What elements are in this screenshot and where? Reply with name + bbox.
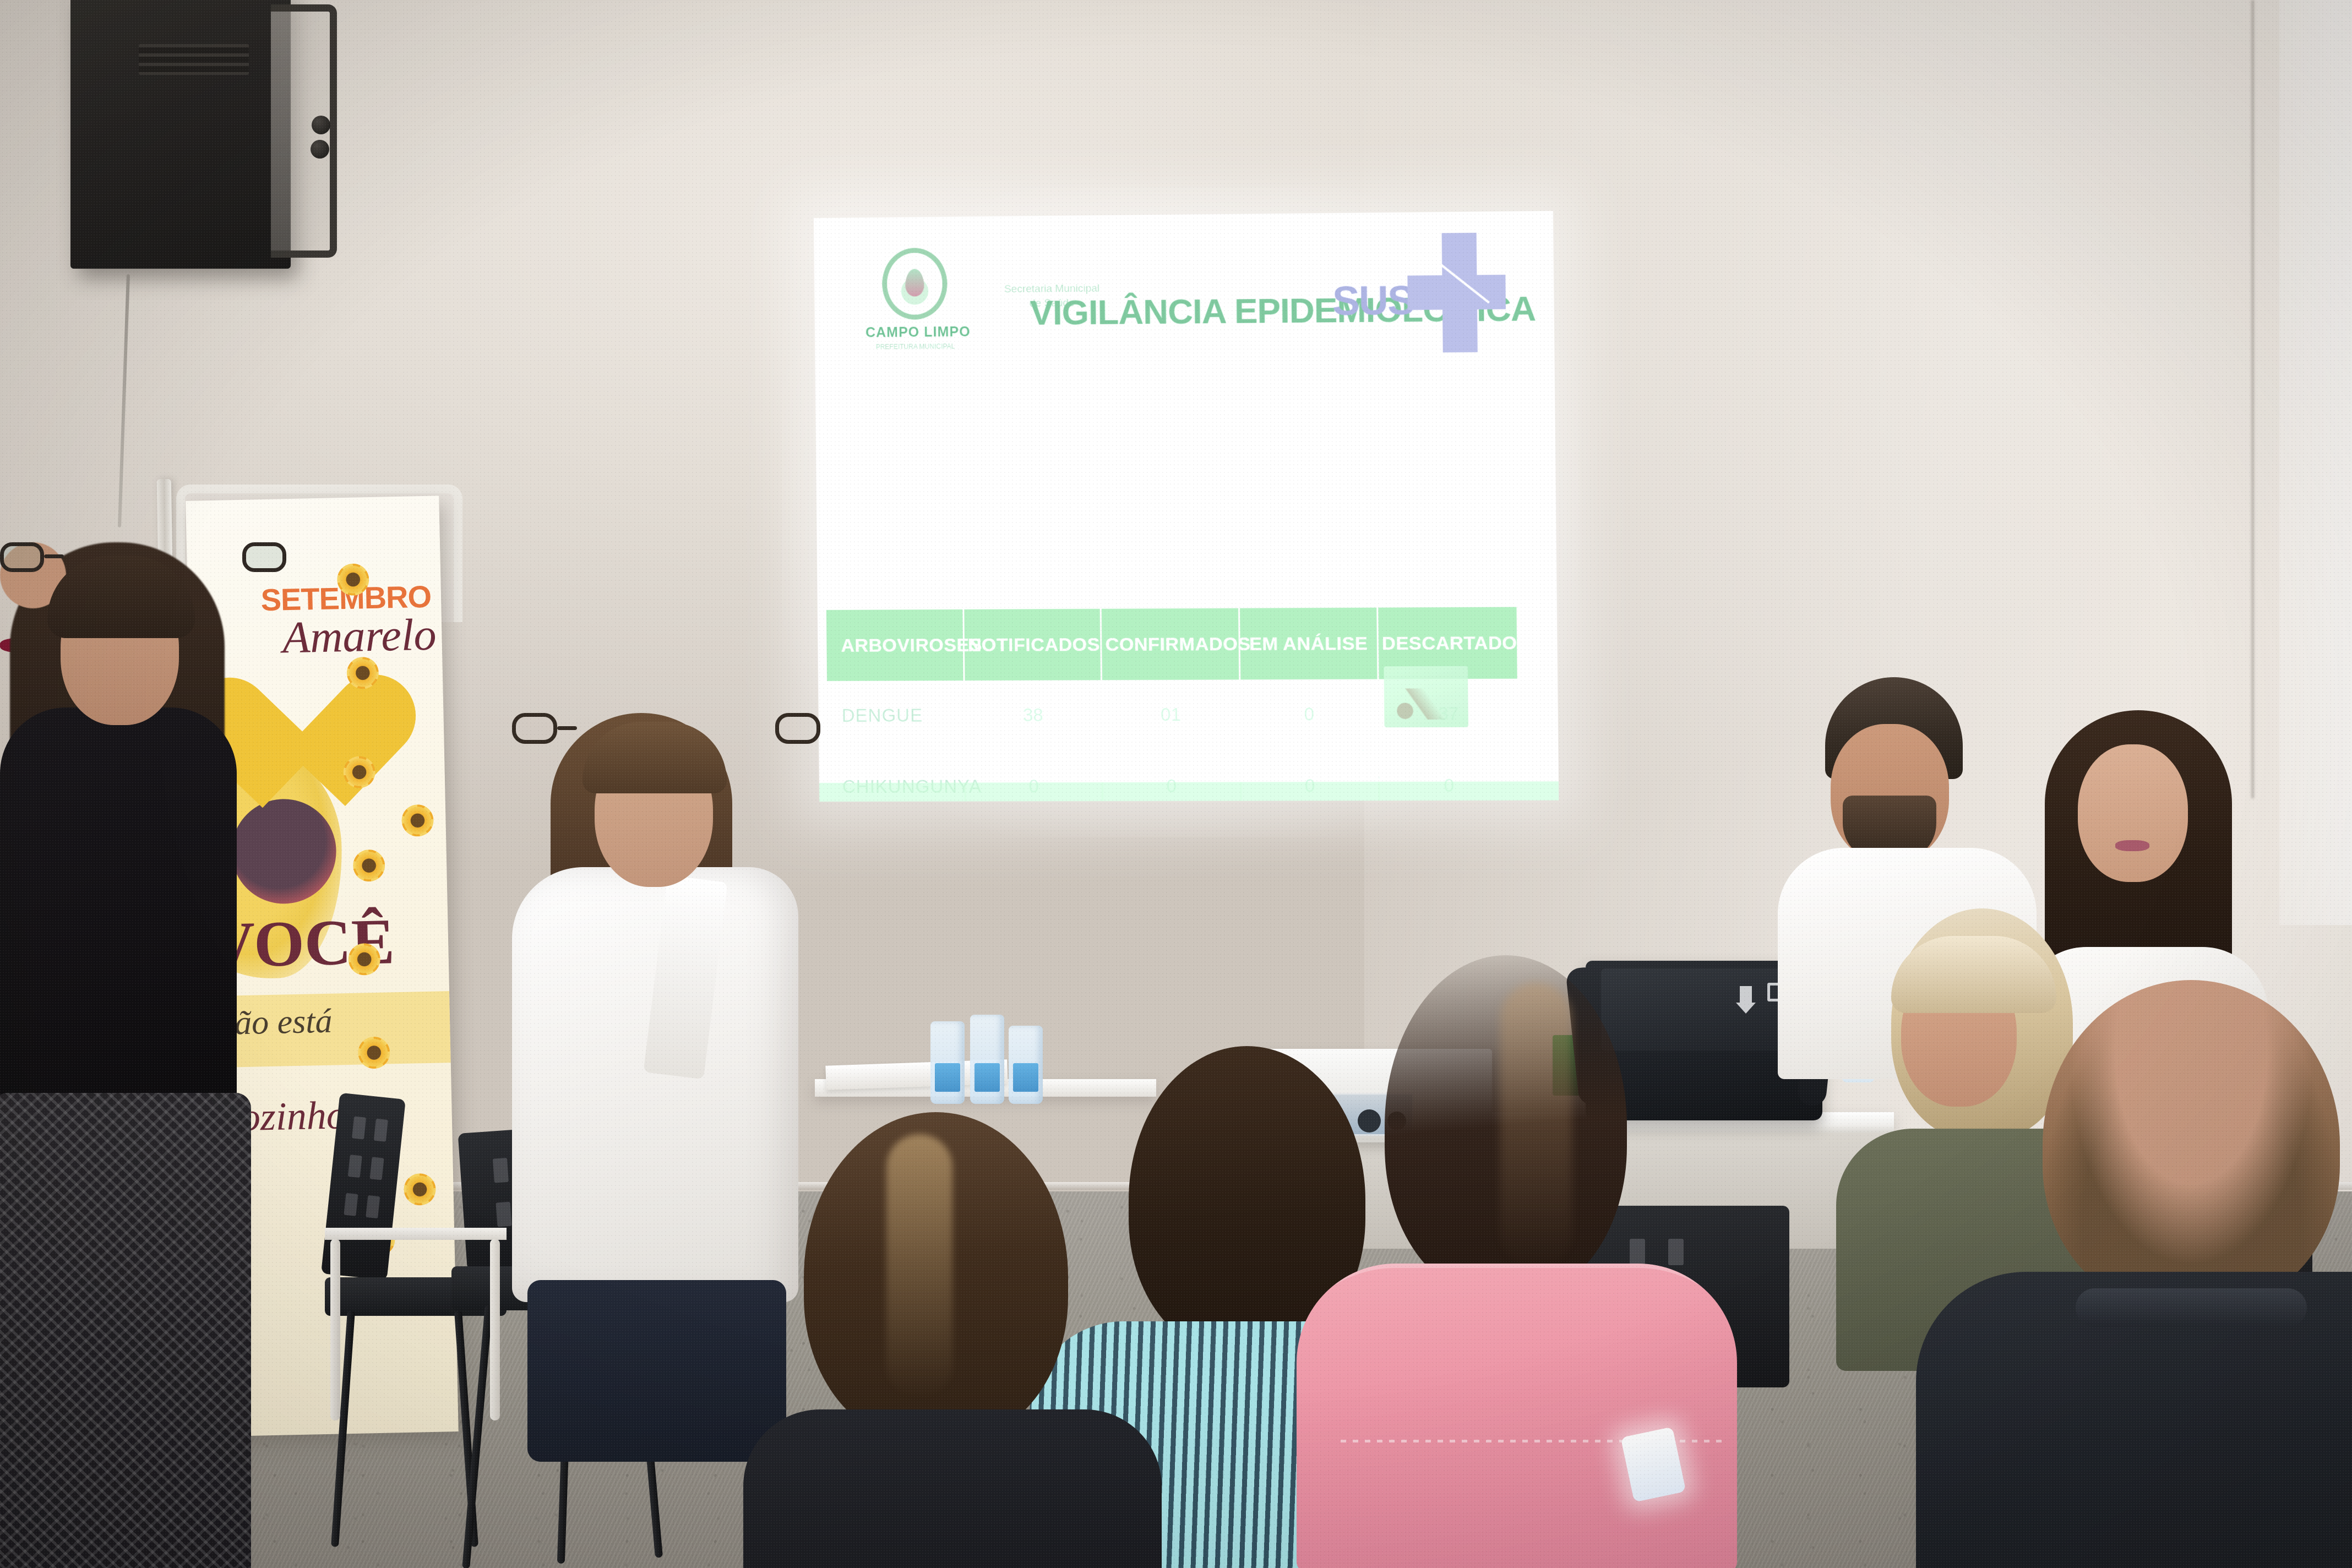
water-bottle [970,1015,1004,1104]
cell-disease: DENGUE [827,680,965,751]
head [2043,980,2340,1310]
black-top [0,707,237,1115]
cell-em-analise: 0 [1239,679,1379,750]
sunflower-icon [343,756,375,788]
white-bench [325,1228,507,1240]
dark-top [743,1409,1162,1568]
white-blazer [512,867,798,1302]
hair [804,1112,1068,1442]
projection-screen-slide: CAMPO LIMPO PREFEITURA MUNICIPAL Secreta… [814,211,1559,802]
lips [2115,840,2149,851]
sunflower-icon [348,943,380,976]
slide-bottom-bar [819,781,1559,802]
sunflower-icon [401,804,434,837]
participant-front-man [1993,980,2352,1568]
jacket-collar [2076,1288,2307,1327]
participant-dark-top-woman [765,1112,1118,1568]
bench-leg [490,1239,500,1420]
sus-logo: SUS [1332,232,1506,353]
cell-notificados: 38 [964,680,1102,751]
sus-cross-icon [1407,232,1506,352]
municipality-emblem-icon [882,248,948,320]
pink-denim-jacket [1297,1264,1737,1568]
column-header-confirmados: CONFIRMADOS [1101,608,1239,680]
column-header-arboviroses: ARBOVIROSES [826,609,964,681]
face [2078,744,2188,882]
sunflower-icon [346,657,379,689]
hair [1385,955,1627,1297]
trousers [527,1280,786,1462]
wall-corner-edge [2251,0,2255,798]
bench-leg [330,1239,340,1420]
speaker-cabinet [70,0,291,269]
slide-footer-image [1384,666,1468,727]
municipality-logo: CAMPO LIMPO PREFEITURA MUNICIPAL [865,247,965,358]
speaker-grille-icon [139,44,249,75]
municipality-subtitle: PREFEITURA MUNICIPAL [865,342,965,351]
speaker-knob-icon [311,140,329,159]
column-header-notificados: NOTIFICADOS [963,609,1102,680]
municipality-name: CAMPO LIMPO [865,324,965,341]
banner-campaign-color: Amarelo [282,609,437,664]
sus-wordmark: SUS [1332,276,1414,324]
sunflower-icon [358,1036,390,1069]
wall-side-panel [2279,0,2352,925]
wall-speaker [62,0,337,280]
sunflower-icon [353,850,385,882]
water-bottle [930,1021,965,1104]
cell-confirmados: 01 [1102,679,1240,750]
water-bottle [1009,1026,1043,1104]
column-header-em-analise: EM ANÁLISE [1239,608,1378,680]
standing-presenter [0,542,286,1568]
patterned-skirt [0,1093,251,1568]
water-drop-icon [905,269,924,296]
water-bottles [930,1016,1052,1104]
speaker-knob-icon [312,116,330,134]
meeting-room-photo: CAMPO LIMPO PREFEITURA MUNICIPAL Secreta… [0,0,2352,1568]
slide-header: CAMPO LIMPO PREFEITURA MUNICIPAL Secreta… [814,211,1555,383]
sunflower-icon [337,563,369,596]
